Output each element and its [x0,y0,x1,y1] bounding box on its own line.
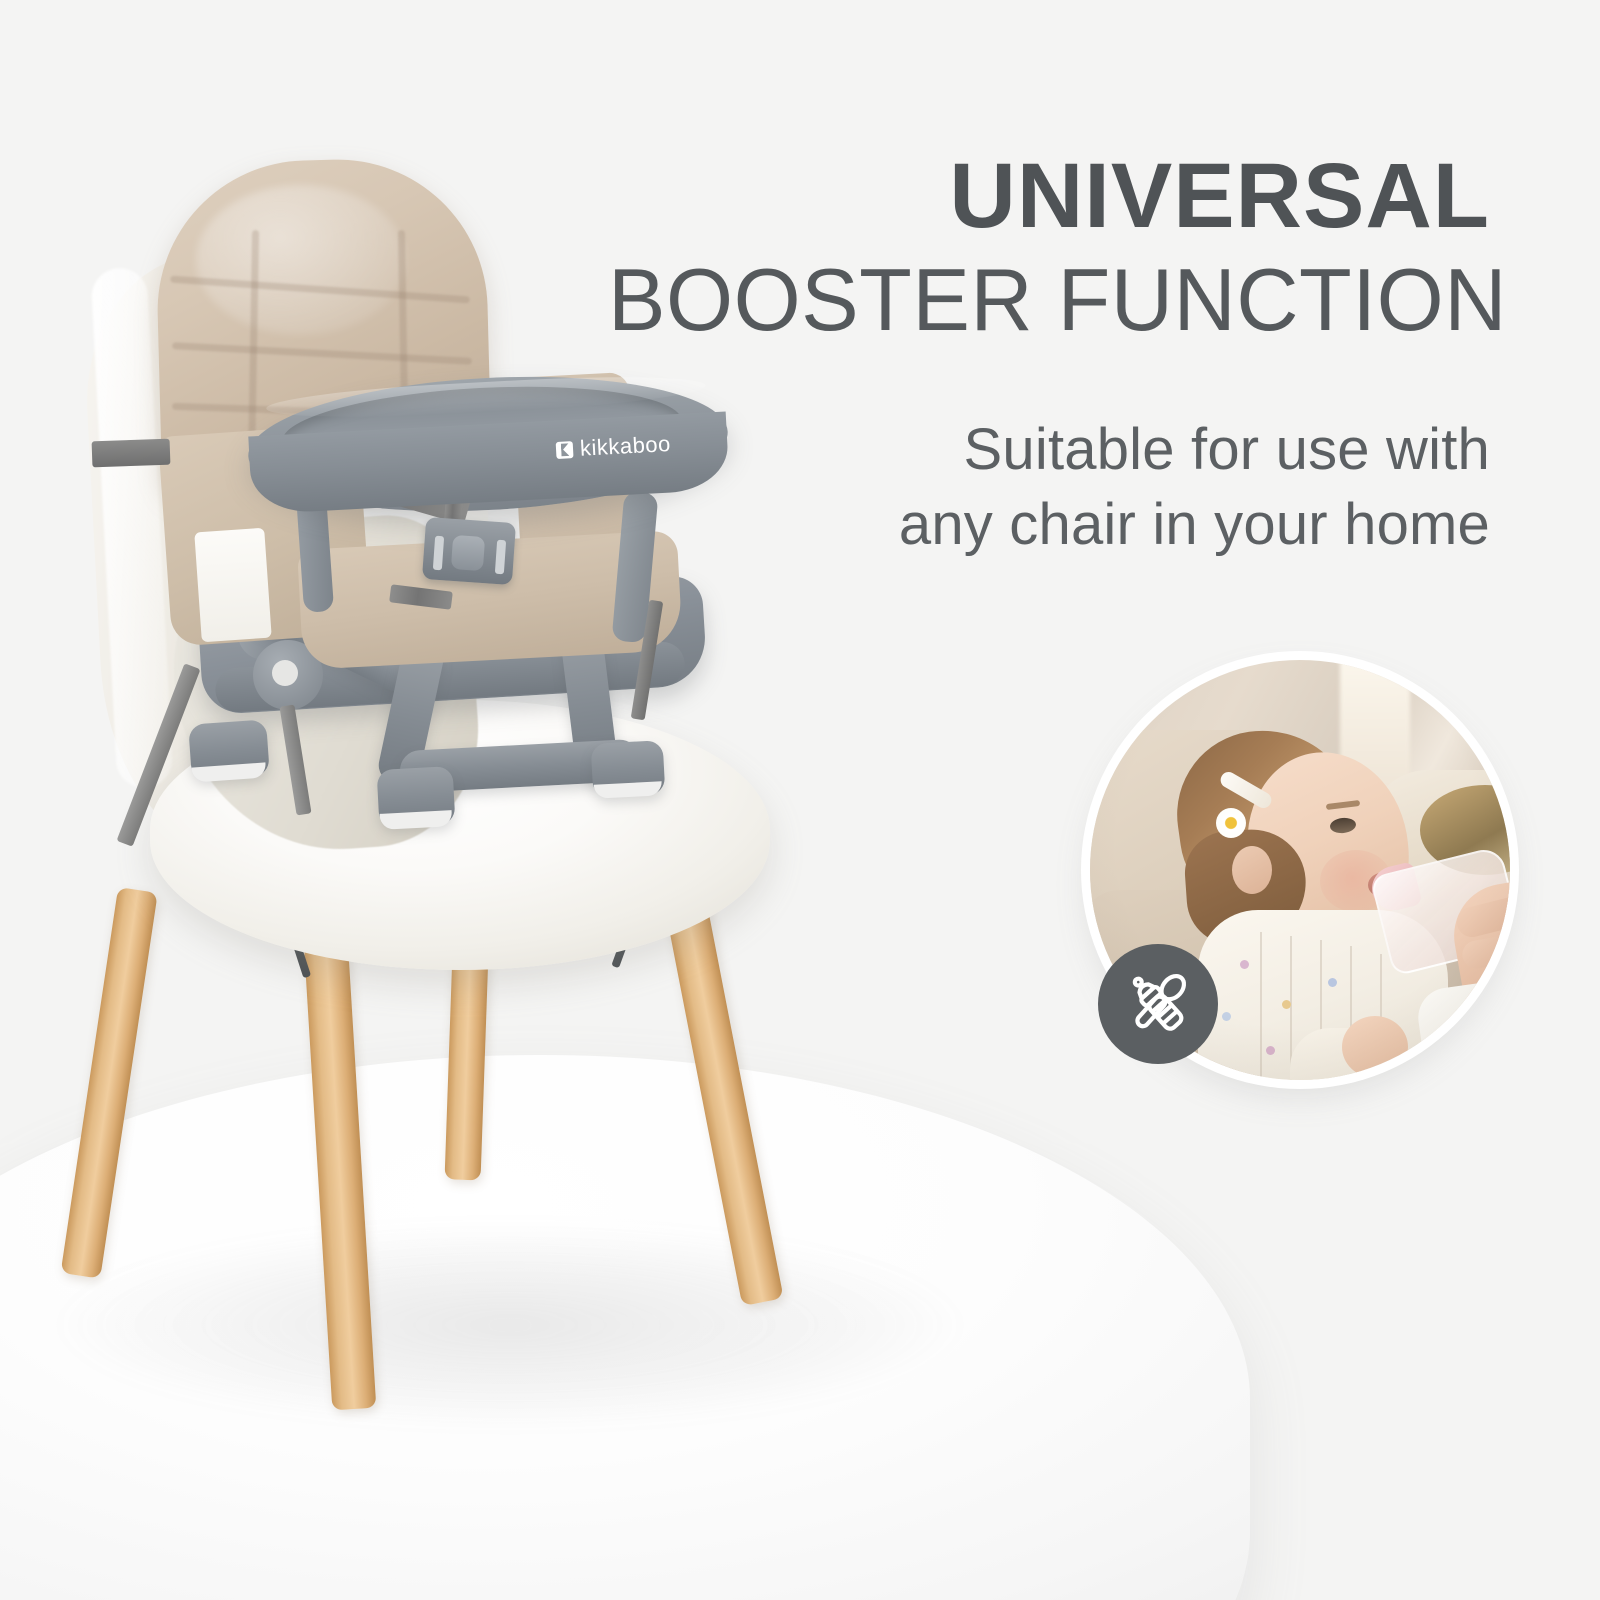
headline-primary: UNIVERSAL [590,150,1490,242]
chair-drop-shadow [60,1225,960,1425]
marketing-banner: kikkaboo UNIVERSAL BOOSTER FUNCTION Suit… [0,0,1600,1600]
bottle-and-spoon-badge [1098,944,1218,1064]
headline-secondary: BOOSTER FUNCTION [608,248,1490,352]
cushion-white-panel [194,528,272,643]
brand-logo-text: kikkaboo [579,433,671,460]
kikkaboo-k-mark-icon [556,441,574,459]
bottle-and-spoon-icon [1119,965,1197,1043]
buckle-release-button[interactable] [451,535,485,571]
hinge-button[interactable] [272,660,298,686]
brand-logo: kikkaboo [556,433,672,461]
backrest-attachment-strap [92,439,171,468]
subheadline-line-2: any chair in your home [590,487,1490,562]
headline-block: UNIVERSAL BOOSTER FUNCTION Suitable for … [590,150,1490,563]
cushion-highlight [196,185,406,335]
